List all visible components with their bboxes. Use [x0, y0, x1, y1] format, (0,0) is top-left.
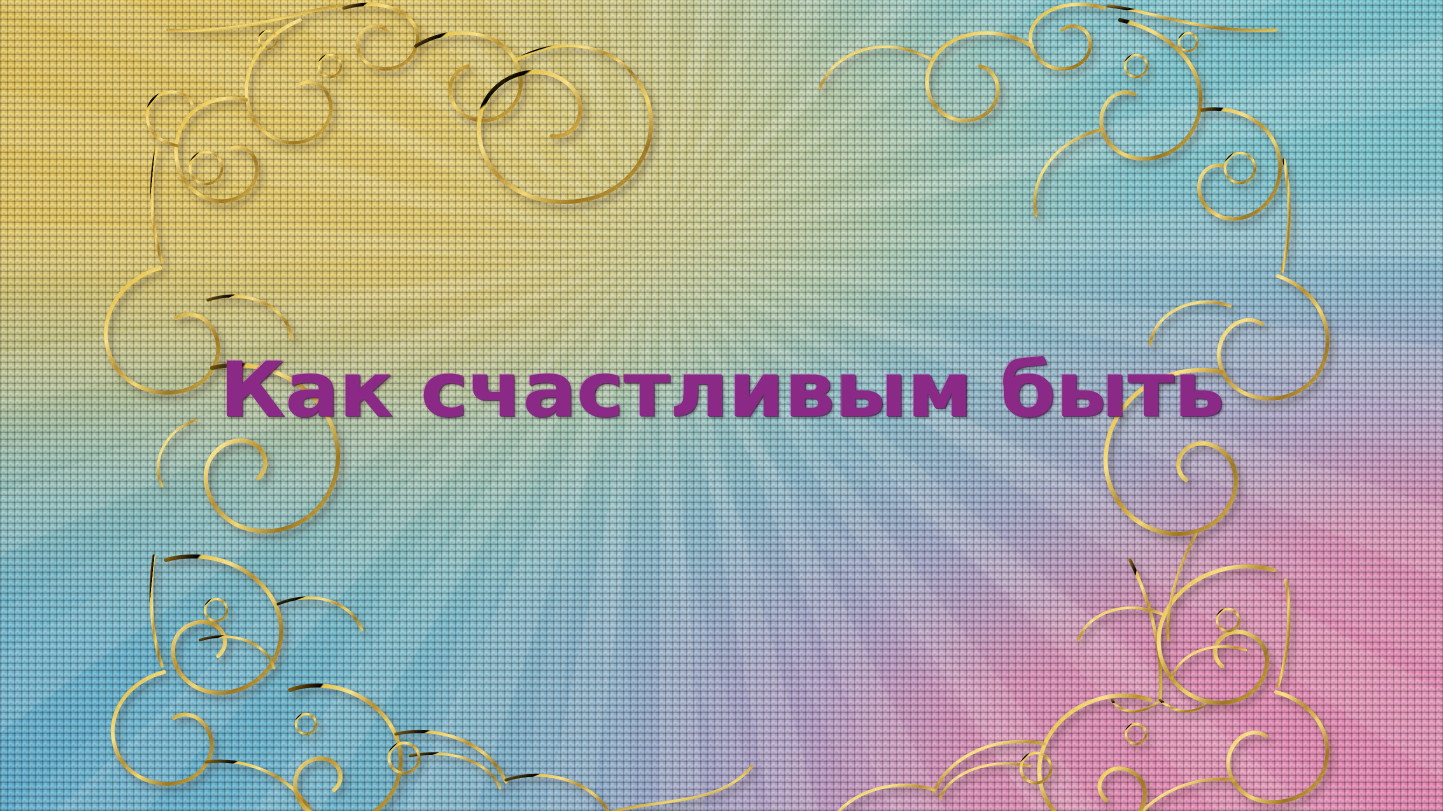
- slide-title-container: Как счастливым быть: [0, 352, 1443, 428]
- presentation-slide: Как счастливым быть: [0, 0, 1443, 811]
- slide-title: Как счастливым быть: [219, 352, 1224, 428]
